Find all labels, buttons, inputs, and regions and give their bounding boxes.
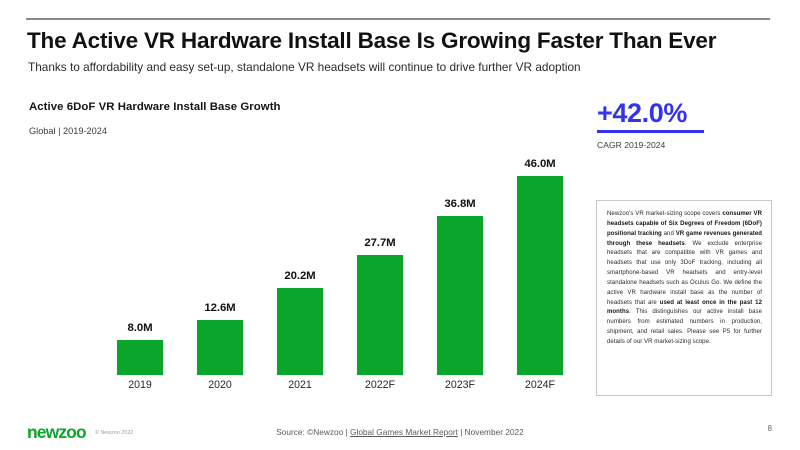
page-title: The Active VR Hardware Install Base Is G… xyxy=(27,27,767,54)
x-axis-labels: 2019202020212022F2023F2024F xyxy=(29,379,574,399)
bar-column: 12.6M xyxy=(180,150,260,375)
bar-column: 46.0M xyxy=(500,150,580,375)
bar[interactable] xyxy=(517,176,563,375)
note-run: . This distinguishes our active install … xyxy=(607,309,762,345)
source-prefix: Source: ©Newzoo | xyxy=(276,427,350,437)
source-credit: Source: ©Newzoo | Global Games Market Re… xyxy=(0,427,800,437)
source-report-link[interactable]: Global Games Market Report xyxy=(350,427,458,437)
cagr-caption: CAGR 2019-2024 xyxy=(597,140,772,150)
note-run: Newzoo's VR market-sizing scope covers xyxy=(607,211,722,217)
bar[interactable] xyxy=(277,288,323,375)
bar-column: 27.7M xyxy=(340,150,420,375)
bar-value-label: 12.6M xyxy=(180,302,260,314)
cagr-underline xyxy=(597,130,704,133)
chart-title: Active 6DoF VR Hardware Install Base Gro… xyxy=(29,101,281,113)
slide-canvas: The Active VR Hardware Install Base Is G… xyxy=(0,0,800,450)
bar-value-label: 36.8M xyxy=(420,198,500,210)
bar[interactable] xyxy=(357,255,403,375)
x-axis-tick-label: 2024F xyxy=(500,379,580,391)
cagr-value: +42.0% xyxy=(597,99,772,127)
methodology-note-box: Newzoo's VR market-sizing scope covers c… xyxy=(596,200,772,396)
x-axis-tick-label: 2023F xyxy=(420,379,500,391)
note-run: . We exclude enterprise headsets that ar… xyxy=(607,241,762,306)
bar-value-label: 46.0M xyxy=(500,158,580,170)
bar-column: 36.8M xyxy=(420,150,500,375)
cagr-callout: +42.0% CAGR 2019-2024 xyxy=(597,99,772,150)
bar-value-label: 8.0M xyxy=(100,322,180,334)
source-suffix: | November 2022 xyxy=(458,427,524,437)
bar[interactable] xyxy=(117,340,163,375)
bar-column: 20.2M xyxy=(260,150,340,375)
chart-scope-label: Global | 2019-2024 xyxy=(29,126,107,136)
bar-value-label: 27.7M xyxy=(340,237,420,249)
bar[interactable] xyxy=(197,320,243,375)
bar-chart-plot: 8.0M12.6M20.2M27.7M36.8M46.0M xyxy=(29,150,574,375)
page-subtitle: Thanks to affordability and easy set-up,… xyxy=(28,60,768,75)
note-run: and xyxy=(662,231,676,237)
methodology-note-text: Newzoo's VR market-sizing scope covers c… xyxy=(607,210,762,348)
bar[interactable] xyxy=(437,216,483,375)
x-axis-tick-label: 2020 xyxy=(180,379,260,391)
bar-value-label: 20.2M xyxy=(260,270,340,282)
header-divider xyxy=(26,18,770,20)
x-axis-tick-label: 2022F xyxy=(340,379,420,391)
x-axis-tick-label: 2021 xyxy=(260,379,340,391)
bar-column: 8.0M xyxy=(100,150,180,375)
x-axis-tick-label: 2019 xyxy=(100,379,180,391)
page-number: 8 xyxy=(767,424,772,433)
